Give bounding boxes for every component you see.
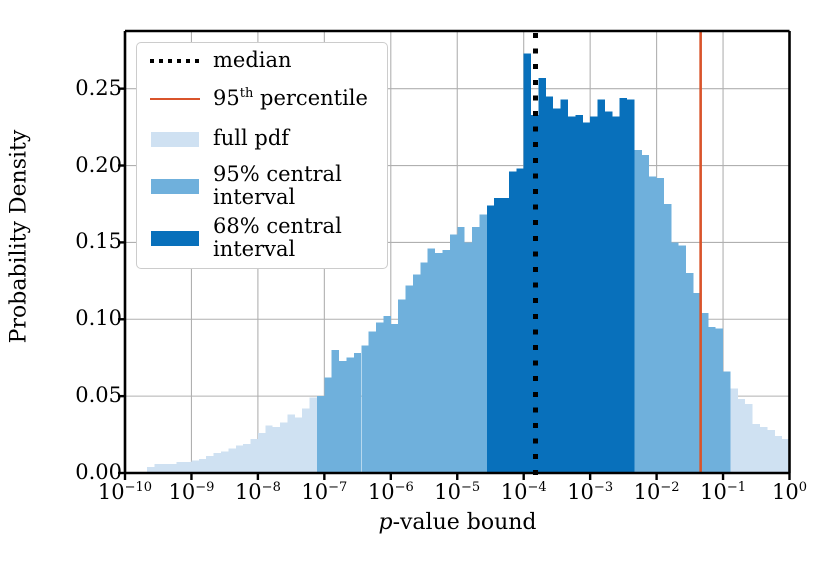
x-tick-label: 10−2 — [634, 482, 680, 503]
legend-patch-icon — [149, 175, 201, 197]
x-tick-label: 10−10 — [98, 482, 152, 503]
x-tick-label: 10−5 — [434, 482, 480, 503]
legend-entry: full pdf — [149, 127, 385, 150]
legend-entry: 68% centralinterval — [149, 215, 385, 261]
x-tick-label: 10−8 — [235, 482, 281, 503]
solid-line-glyph — [150, 98, 200, 101]
legend-label: 68% centralinterval — [213, 215, 342, 261]
x-tick-label: 10−9 — [168, 482, 214, 503]
legend-patch-icon — [149, 227, 201, 249]
x-axis-label-rest: -value bound — [393, 510, 537, 535]
legend-entry: 95% centralinterval — [149, 163, 385, 209]
legend-label: full pdf — [213, 127, 289, 150]
legend-label: 95th percentile — [213, 87, 368, 110]
x-tick-label: 10−3 — [567, 482, 613, 503]
legend-label: median — [213, 49, 292, 72]
color-swatch — [151, 132, 199, 147]
legend-patch-icon — [149, 128, 201, 150]
x-axis-label-italic: p — [378, 510, 392, 535]
x-tick-label: 10−6 — [368, 482, 414, 503]
color-swatch — [151, 179, 199, 194]
legend-label: 95% centralinterval — [213, 163, 342, 209]
legend-dotted-line-icon — [149, 50, 201, 72]
x-tick-label: 10−4 — [501, 482, 547, 503]
legend-solid-line-icon — [149, 88, 201, 110]
x-tick-label: 10−1 — [700, 482, 746, 503]
dotted-line-glyph — [150, 59, 200, 63]
legend-entry: 95th percentile — [149, 87, 385, 110]
figure-canvas: Probability Density 0.000.050.100.150.20… — [0, 0, 832, 566]
x-tick-label: 100 — [772, 482, 807, 503]
median-line — [533, 33, 538, 475]
color-swatch — [151, 231, 199, 246]
legend-entry: median — [149, 49, 385, 72]
x-axis-label: p-value bound — [125, 510, 790, 535]
legend: median95th percentilefull pdf95% central… — [136, 42, 388, 269]
x-tick-label: 10−7 — [301, 482, 347, 503]
